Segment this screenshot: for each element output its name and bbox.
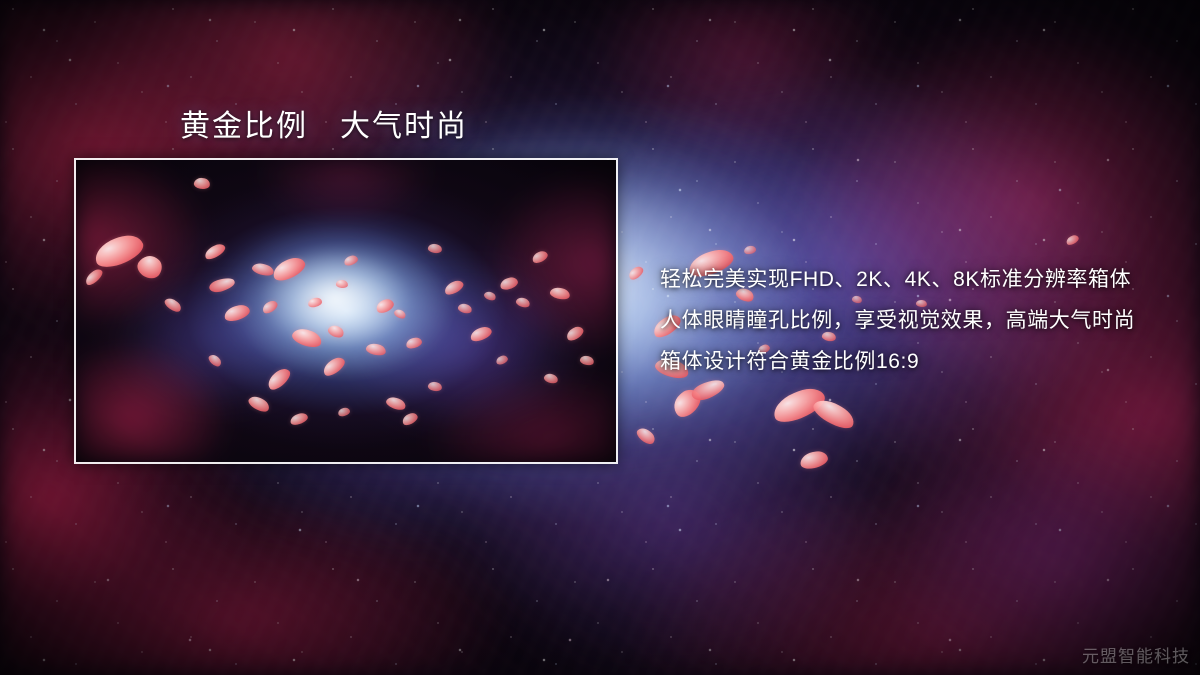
petal-shape xyxy=(627,264,646,281)
petal-shape xyxy=(307,297,323,309)
petal-shape xyxy=(1065,234,1080,247)
petal-shape xyxy=(495,354,509,366)
petal-shape xyxy=(83,267,105,288)
petal-shape xyxy=(343,254,359,267)
petal-shape xyxy=(427,243,443,255)
petal-shape xyxy=(207,352,223,368)
petal-shape xyxy=(543,372,559,385)
petal-shape xyxy=(265,365,294,392)
petal-shape xyxy=(668,385,705,421)
petal-shape xyxy=(579,354,595,367)
body-text-block: 轻松完美实现FHD、2K、4K、8K标准分辨率箱体 人体眼睛瞳孔比例，享受视觉效… xyxy=(660,259,1170,382)
petal-shape xyxy=(549,286,571,302)
petal-shape xyxy=(337,407,351,418)
panel-vignette xyxy=(76,160,616,462)
petal-shape xyxy=(320,354,347,378)
petal-shape xyxy=(374,297,395,315)
petal-shape xyxy=(483,290,497,302)
panel-starfield xyxy=(76,160,616,462)
petal-shape xyxy=(261,299,280,316)
petal-shape xyxy=(251,261,275,278)
slide-canvas: 黄金比例 大气时尚 轻松完美实现FHD、2K、4K、8K标准分辨率箱体 人体眼睛… xyxy=(0,0,1200,675)
panel-crimson-nebula xyxy=(76,160,616,462)
petal-shape xyxy=(163,296,183,315)
petal-shape xyxy=(443,278,466,297)
petal-shape xyxy=(289,411,309,426)
petal-shape xyxy=(193,177,211,191)
panel-bright-core xyxy=(76,160,616,462)
body-line-3: 箱体设计符合黄金比例16:9 xyxy=(660,341,1170,382)
petal-shape xyxy=(365,342,387,358)
petal-shape xyxy=(223,303,252,324)
petal-shape xyxy=(457,302,473,315)
framed-image-panel[interactable] xyxy=(74,158,618,464)
page-title: 黄金比例 大气时尚 xyxy=(180,101,468,145)
petal-shape xyxy=(385,395,408,413)
petal-shape xyxy=(427,381,443,393)
panel-base-gradient xyxy=(76,160,616,462)
petal-shape xyxy=(405,336,423,350)
watermark: 元盟智能科技 xyxy=(1082,642,1190,667)
petal-shape xyxy=(469,325,494,344)
petal-shape xyxy=(564,324,585,343)
petal-shape xyxy=(810,394,858,433)
body-line-1: 轻松完美实现FHD、2K、4K、8K标准分辨率箱体 xyxy=(660,259,1170,300)
petal-shape xyxy=(203,241,228,261)
petal-shape xyxy=(326,323,345,340)
panel-violet-nebula xyxy=(76,160,616,462)
petal-shape xyxy=(208,275,236,294)
petal-shape xyxy=(744,245,757,255)
petal-shape xyxy=(531,249,550,265)
petal-shape xyxy=(401,411,420,427)
petal-shape xyxy=(769,383,829,427)
petal-shape xyxy=(634,425,657,447)
body-line-2: 人体眼睛瞳孔比例，享受视觉效果，高端大气时尚 xyxy=(660,300,1170,341)
petal-shape xyxy=(134,251,166,283)
petal-shape xyxy=(799,449,830,470)
petal-shape xyxy=(246,393,271,414)
petal-shape xyxy=(393,308,407,321)
petal-shape xyxy=(270,254,308,284)
petal-shape xyxy=(515,296,531,309)
petal-shape xyxy=(290,325,324,350)
petal-shape xyxy=(91,230,147,272)
petal-shape xyxy=(499,276,519,292)
petal-shape xyxy=(336,279,349,289)
